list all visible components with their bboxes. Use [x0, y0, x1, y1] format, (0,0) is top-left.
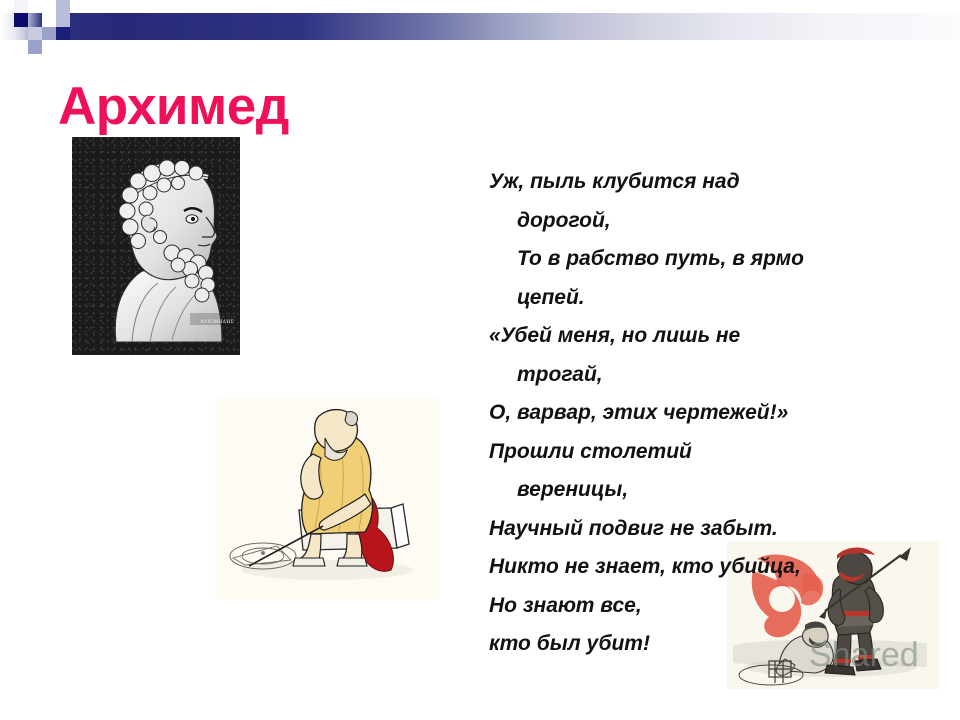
poem-line: Но знают все, — [489, 587, 919, 626]
deco-square-4 — [42, 13, 56, 27]
poem-line: трогай, — [489, 356, 919, 395]
deco-square-1 — [14, 0, 28, 13]
poem-line: То в рабство путь, в ярмо — [489, 240, 919, 279]
poem-line: цепей. — [489, 279, 919, 318]
poem-line: Уж, пыль клубится над — [489, 163, 919, 202]
deco-square-5 — [56, 13, 70, 27]
poem-line: О, варвар, этих чертежей!» — [489, 394, 919, 433]
header-decoration — [0, 0, 960, 60]
poem-line: дорогой, — [489, 202, 919, 241]
poem-line: Прошли столетий — [489, 433, 919, 472]
deco-square-3 — [56, 0, 70, 13]
deco-square-8 — [56, 27, 70, 40]
deco-square-2 — [28, 0, 42, 13]
archimedes-drawing-circles — [215, 398, 440, 600]
deco-square-6 — [28, 27, 42, 40]
poem-line: «Убей меня, но лишь не — [489, 317, 919, 356]
slide-archimedes: Архимед — [0, 0, 960, 720]
archimedes-bust-engraving: ΑΡΧΙΜΗΔΗΣ — [72, 137, 240, 355]
page-title: Архимед — [58, 78, 289, 136]
poem-line: кто был убит! — [489, 625, 919, 664]
poem-line: вереницы, — [489, 471, 919, 510]
poem-text: Уж, пыль клубится над дорогой, То в рабс… — [489, 163, 919, 664]
seated-figure-drawing — [215, 398, 440, 600]
poem-line: Никто не знает, кто убийца, — [489, 548, 919, 587]
poem-line: Научный подвиг не забыт. — [489, 510, 919, 549]
header-gradient-bar — [0, 13, 960, 40]
deco-square-accent — [14, 13, 28, 27]
bust-caption: ΑΡΧΙΜΗΔΗΣ — [200, 320, 234, 325]
deco-square-7 — [42, 27, 56, 40]
deco-square-9 — [28, 40, 42, 54]
